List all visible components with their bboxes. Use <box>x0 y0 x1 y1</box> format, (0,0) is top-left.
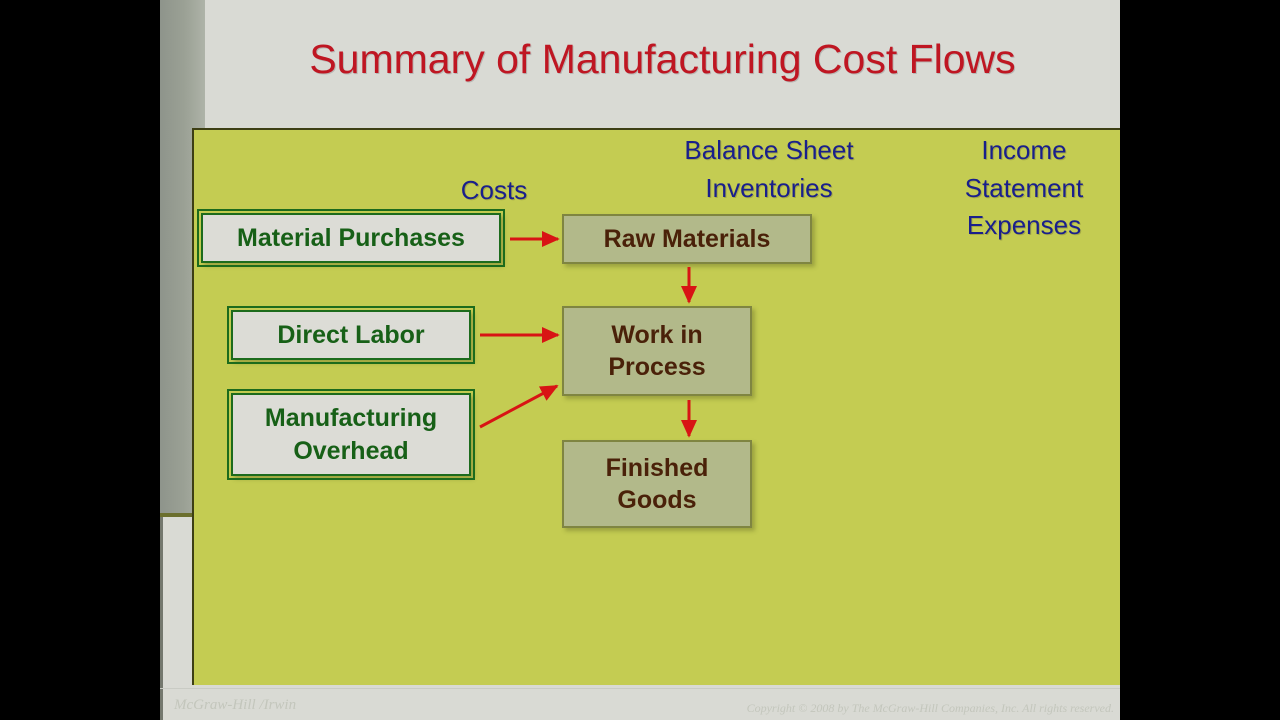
presentation-slide: Summary of Manufacturing Cost Flows Cost… <box>160 0 1120 720</box>
cost-flow-diagram-panel: Costs Balance Sheet Inventories Income S… <box>192 128 1120 685</box>
page-title: Summary of Manufacturing Cost Flows <box>205 36 1120 83</box>
footer-copyright: Copyright © 2008 by The McGraw-Hill Comp… <box>747 701 1114 716</box>
arrow-overhead-to-wip <box>480 386 557 427</box>
footer-divider <box>160 688 1120 689</box>
inventory-box-finished-goods: Finished Goods <box>562 440 752 528</box>
column-header-income-statement: Income Statement Expenses <box>924 132 1120 245</box>
inventory-box-raw-materials: Raw Materials <box>562 214 812 264</box>
cost-box-manufacturing-overhead: Manufacturing Overhead <box>231 393 471 476</box>
screenshot-stage: Summary of Manufacturing Cost Flows Cost… <box>0 0 1280 720</box>
inventory-box-work-in-process: Work in Process <box>562 306 752 396</box>
footer-publisher: McGraw-Hill /Irwin <box>174 697 296 714</box>
column-header-costs: Costs <box>404 172 584 210</box>
column-header-balance-sheet: Balance Sheet Inventories <box>634 132 904 207</box>
cost-box-material-purchases: Material Purchases <box>201 213 501 263</box>
cost-box-direct-labor: Direct Labor <box>231 310 471 360</box>
